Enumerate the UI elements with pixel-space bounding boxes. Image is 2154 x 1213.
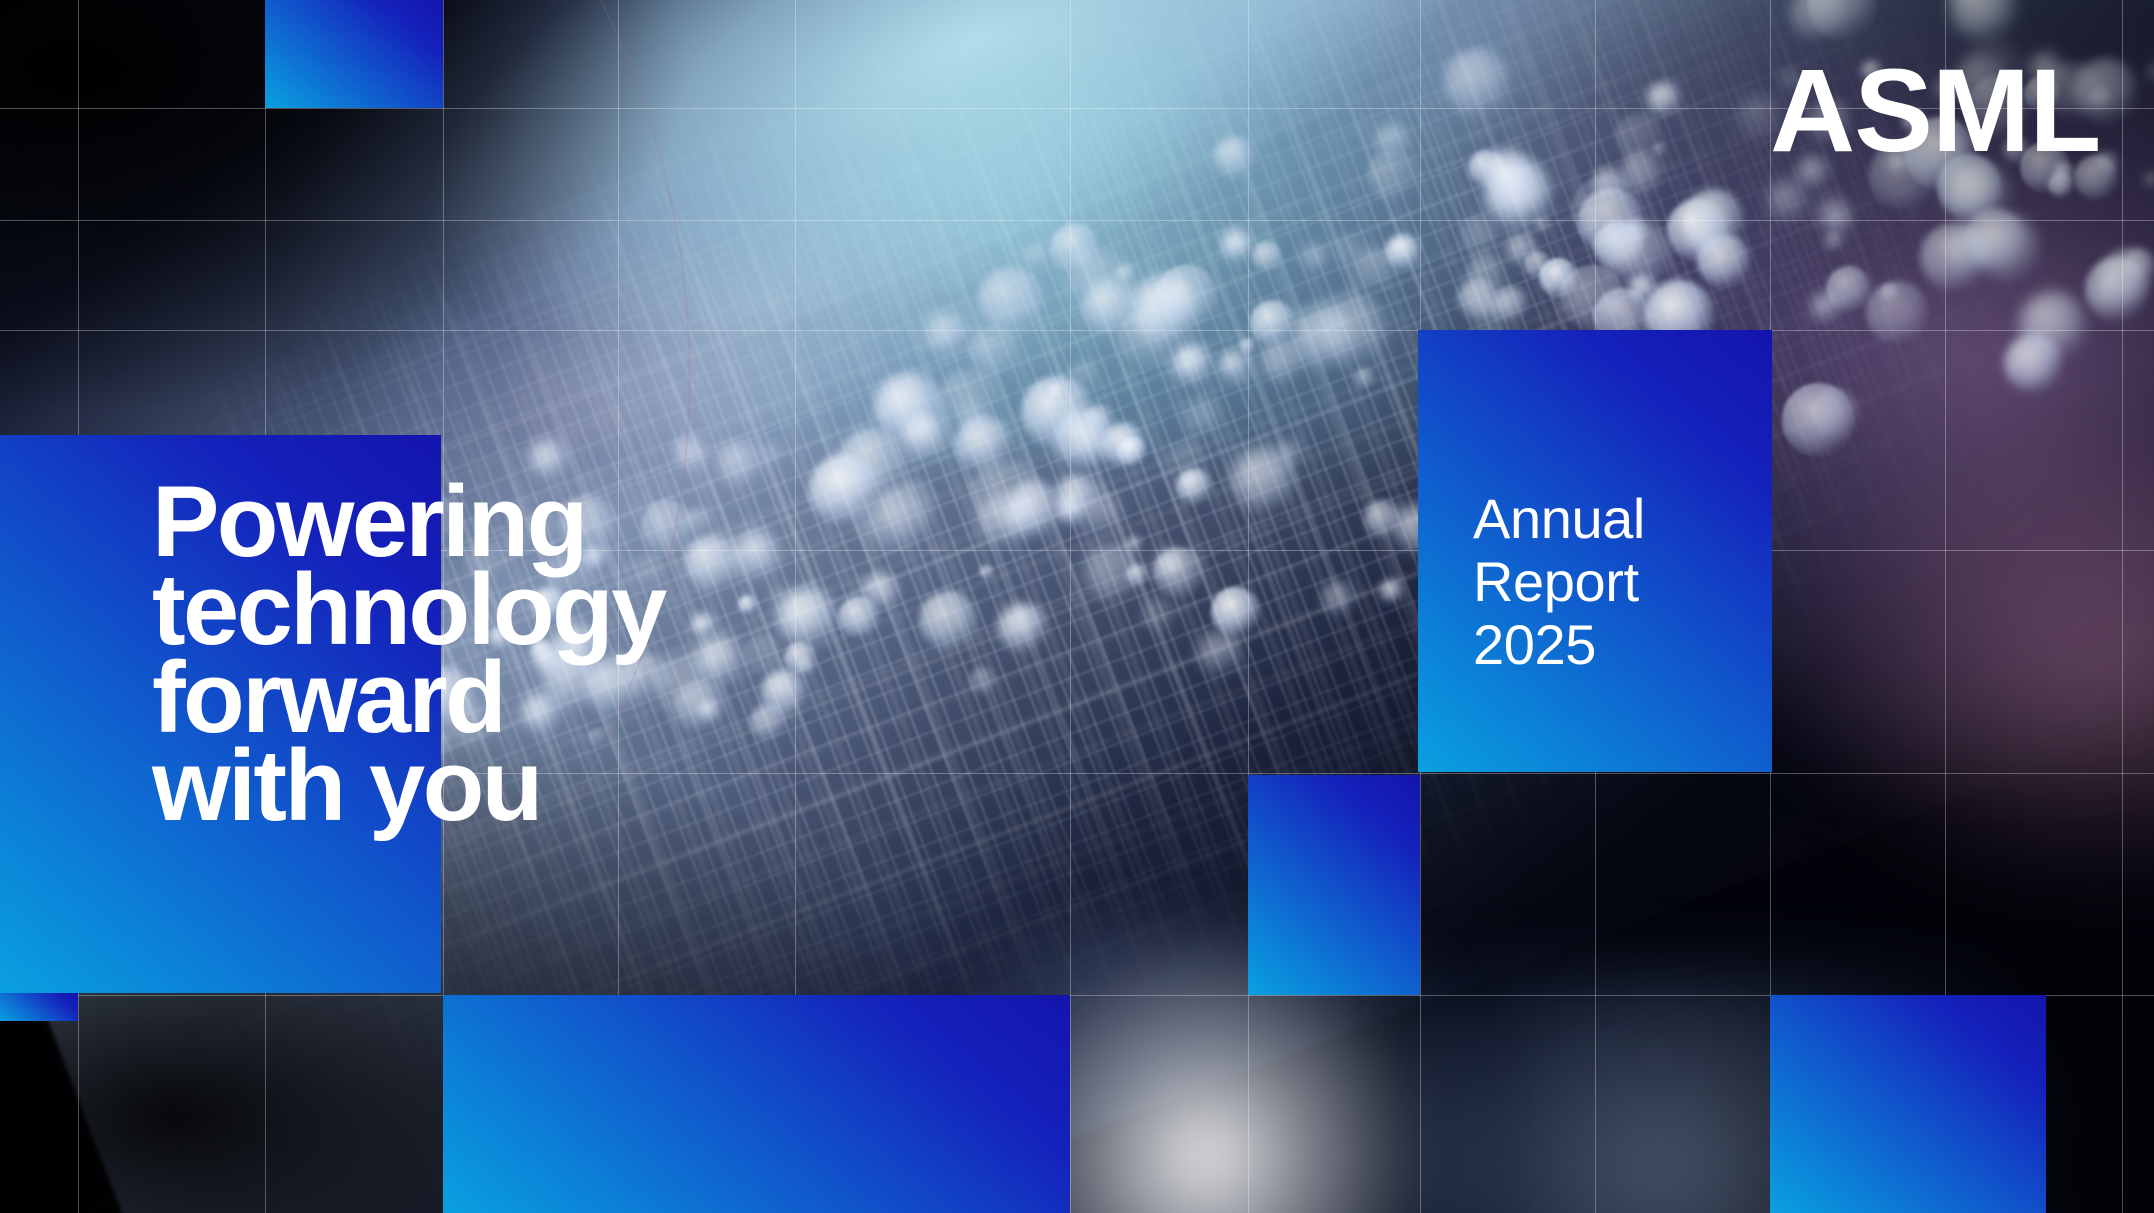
panel-mid-blue [1248, 775, 1420, 995]
report-label: Annual Report 2025 [1473, 487, 1645, 676]
annual-report-cover: Powering technology forward with you Ann… [0, 0, 2154, 1213]
panel-bottom [443, 995, 1070, 1213]
panel-top-left [265, 0, 443, 108]
page-title: Powering technology forward with you [152, 478, 665, 830]
asml-wordmark-logo: ASML [1770, 52, 2100, 170]
panel-left-stub [0, 993, 78, 1021]
panel-bottom-right [1770, 995, 2046, 1213]
